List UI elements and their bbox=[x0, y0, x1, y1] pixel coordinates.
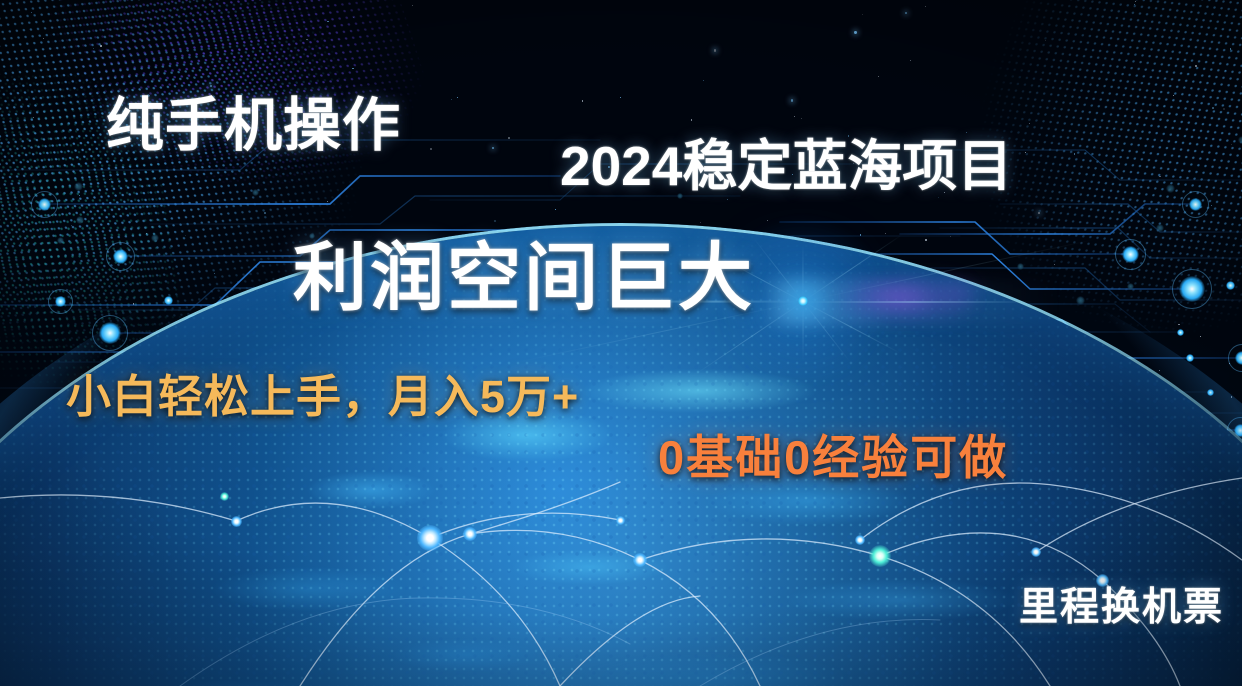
headline-year-project: 2024稳定蓝海项目 bbox=[560, 139, 1012, 194]
promo-banner: 纯手机操作 2024稳定蓝海项目 利润空间巨大 小白轻松上手，月入5万+ 0基础… bbox=[0, 0, 1242, 686]
subheadline-zero-base: 0基础0经验可做 bbox=[658, 434, 1008, 481]
headline-profit-space: 利润空间巨大 bbox=[293, 241, 755, 315]
footer-miles-ticket: 里程换机票 bbox=[1019, 588, 1224, 627]
subheadline-easy-income: 小白轻松上手，月入5万+ bbox=[66, 374, 579, 419]
headline-pure-mobile: 纯手机操作 bbox=[106, 97, 401, 155]
lens-flare-violet-3 bbox=[938, 282, 984, 304]
lens-flare-core bbox=[798, 296, 808, 306]
lens-flare-violet-2 bbox=[860, 284, 930, 310]
